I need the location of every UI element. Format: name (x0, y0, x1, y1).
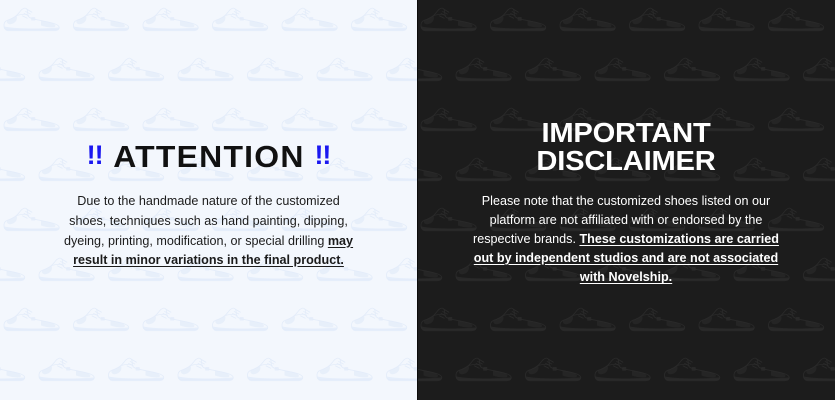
disclaimer-panel: IMPORTANT DISCLAIMER Please note that th… (417, 0, 835, 400)
attention-title: ATTENTION (113, 141, 304, 172)
attention-body: Due to the handmade nature of the custom… (59, 192, 359, 270)
disclaimer-banner: !! ATTENTION !! Due to the handmade natu… (0, 0, 835, 400)
attention-panel: !! ATTENTION !! Due to the handmade natu… (0, 0, 417, 400)
disclaimer-body: Please note that the customized shoes li… (465, 192, 787, 288)
panel-divider (417, 0, 418, 400)
disclaimer-content: IMPORTANT DISCLAIMER Please note that th… (417, 119, 835, 288)
disclaimer-title-line-2: DISCLAIMER (436, 147, 817, 176)
attention-body-normal: Due to the handmade nature of the custom… (64, 194, 348, 247)
double-exclamation-right-icon: !! (314, 142, 330, 169)
attention-content: !! ATTENTION !! Due to the handmade natu… (0, 141, 417, 270)
attention-heading: !! ATTENTION !! (28, 141, 389, 172)
double-exclamation-left-icon: !! (87, 142, 103, 169)
disclaimer-heading: IMPORTANT DISCLAIMER (436, 119, 817, 176)
disclaimer-title-line-1: IMPORTANT (436, 119, 817, 148)
